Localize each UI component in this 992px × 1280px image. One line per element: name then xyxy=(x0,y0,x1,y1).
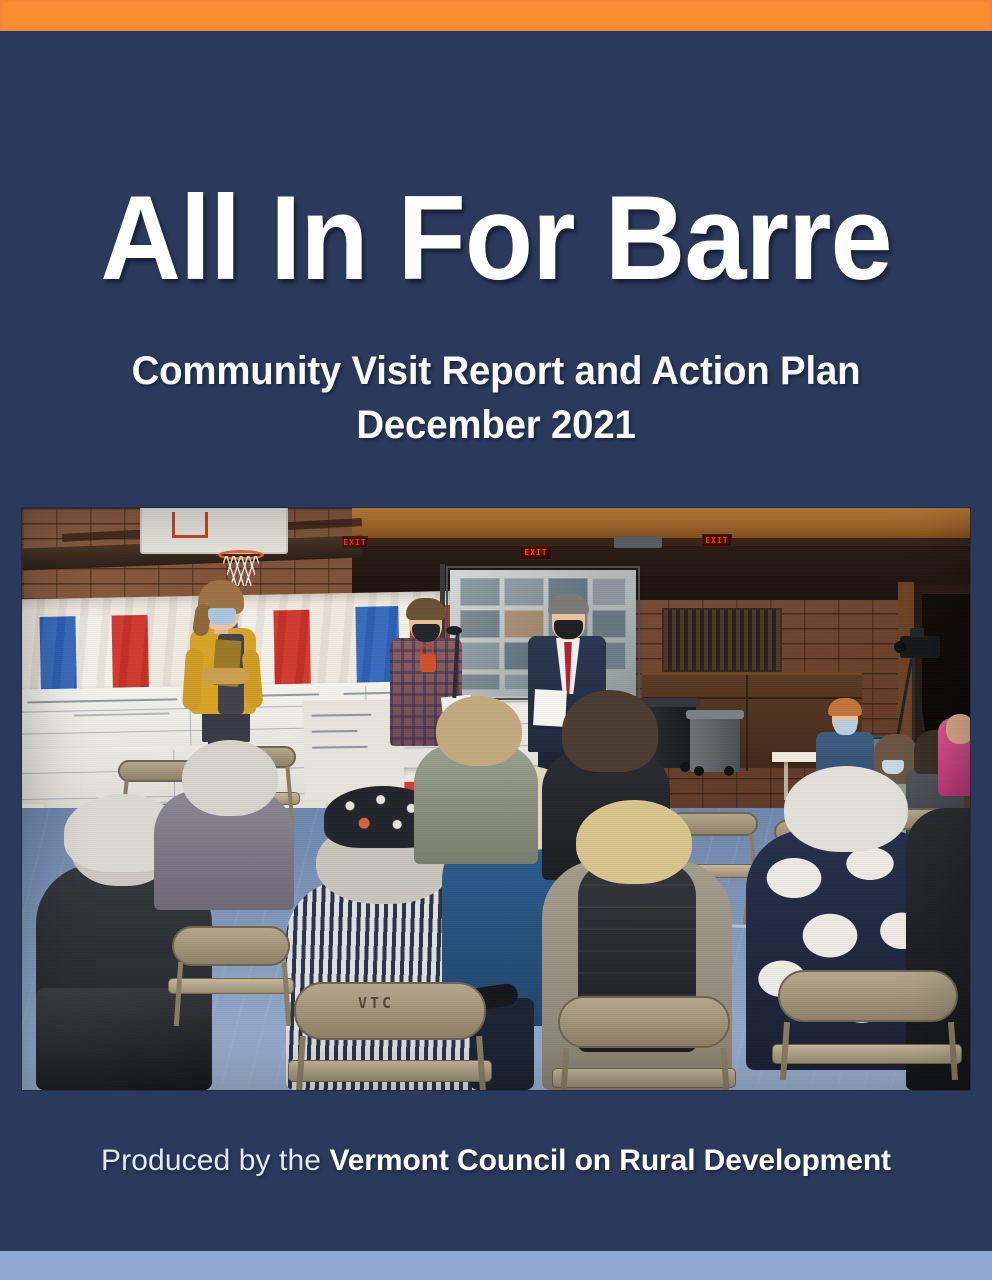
microphone-head-icon xyxy=(446,626,462,635)
audience-member-coat-sheen xyxy=(36,988,212,1090)
presenter-suit-hair xyxy=(548,594,589,614)
top-accent-band-inner xyxy=(3,2,989,29)
exit-sign-icon-center: EXIT xyxy=(520,546,552,560)
audience-member-hair xyxy=(576,800,692,884)
title-block: All In For Barre xyxy=(0,178,992,298)
name-badge xyxy=(420,654,436,672)
audience-member-hair xyxy=(182,740,278,816)
subtitle-block: Community Visit Report and Action Plan D… xyxy=(0,344,992,452)
backboard-target-square xyxy=(172,512,208,538)
presenter-woman-crossed-arms xyxy=(201,668,249,684)
presenter-plaid-hair xyxy=(406,598,446,620)
cover-photograph: EXIT EXIT EXIT xyxy=(22,508,970,1090)
audience-member-hair xyxy=(436,696,522,766)
face-mask-icon xyxy=(208,608,236,625)
face-mask-icon xyxy=(554,620,583,639)
camera-top-handle xyxy=(910,628,924,637)
report-date: December 2021 xyxy=(20,398,972,452)
top-accent-band xyxy=(0,0,992,31)
exit-sign-icon-right: EXIT xyxy=(702,534,732,547)
page-title: All In For Barre xyxy=(35,178,958,298)
report-subtitle: Community Visit Report and Action Plan xyxy=(20,344,972,398)
seated-person-head xyxy=(946,714,970,744)
basketball-backboard xyxy=(140,508,288,554)
face-mask-icon xyxy=(834,720,857,735)
tripod-leg xyxy=(912,658,915,744)
document-cover-page: All In For Barre Community Visit Report … xyxy=(0,0,992,1280)
handheld-paper xyxy=(533,689,567,727)
camera-lens-icon xyxy=(894,641,906,653)
exit-sign-icon-left: EXIT xyxy=(342,536,368,548)
recycling-bin-lid xyxy=(686,710,744,719)
credit-prefix: Produced by the xyxy=(101,1144,329,1177)
producer-credit: Produced by the Vermont Council on Rural… xyxy=(0,1143,992,1179)
credit-organization: Vermont Council on Rural Development xyxy=(329,1144,890,1177)
video-camera-icon xyxy=(900,636,940,658)
audience-member-hair xyxy=(562,690,658,772)
audience-member-hair xyxy=(784,766,908,852)
bottom-accent-band-inner xyxy=(4,1254,988,1280)
seated-person-hair xyxy=(828,698,862,716)
recycling-bin xyxy=(690,716,740,772)
wall-vent-grille xyxy=(662,608,782,672)
ceiling-light-fixture xyxy=(614,536,662,548)
face-mask-icon xyxy=(882,760,904,774)
chair-stencil-label: VTC xyxy=(358,994,394,1012)
